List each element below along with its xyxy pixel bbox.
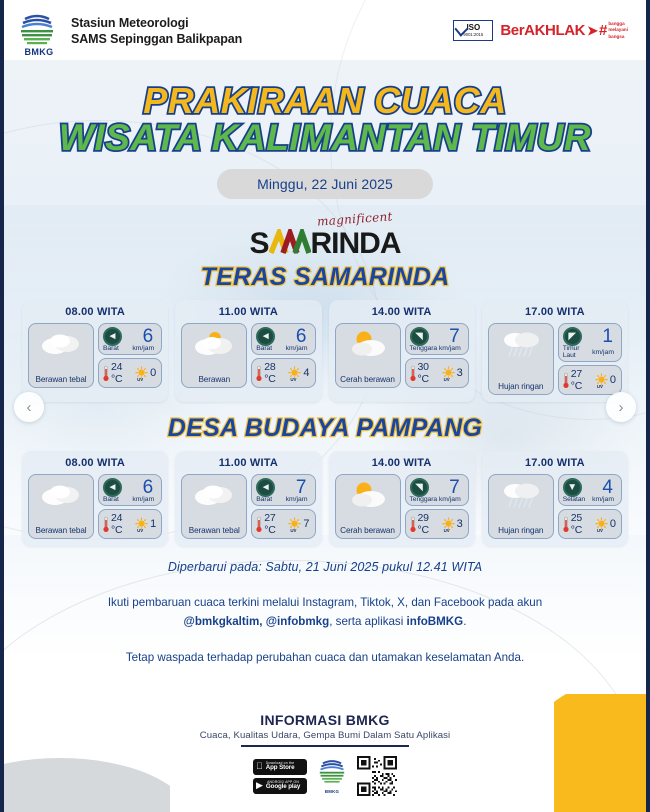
city-logo-prefix: S xyxy=(249,229,268,259)
condition-panel: Berawan xyxy=(181,323,247,388)
berakhlak-logo: ➤ # bangga melayani bangsa xyxy=(587,21,628,40)
google-play-icon: ▶ xyxy=(256,781,263,790)
temperature-panel: 25 °C xyxy=(558,509,622,539)
wind-direction: Tenggara xyxy=(410,496,438,503)
warning-text: Tetap waspada terhadap perubahan cuaca d… xyxy=(0,651,650,664)
uv-sun-icon: UV xyxy=(441,517,456,532)
follow-end: . xyxy=(463,615,466,628)
wind-direction: Barat xyxy=(256,345,272,352)
sunny-cloudy-icon xyxy=(345,480,391,510)
forecast-time: 17.00 WITA xyxy=(488,457,622,469)
wind-direction: Barat xyxy=(103,345,119,352)
berakhlak-text: BerAKHLAK xyxy=(500,22,585,39)
uv-index-value: 1 xyxy=(150,518,158,530)
forecast-card[interactable]: 14.00 WITA Cerah berawan xyxy=(329,451,475,546)
wind-unit: km/jam xyxy=(592,496,617,503)
forecast-time: 17.00 WITA xyxy=(488,306,622,318)
forecast-card[interactable]: 11.00 WITA Berawan tebal xyxy=(175,451,321,546)
thermometer-icon xyxy=(562,372,570,389)
condition-panel: Hujan ringan xyxy=(488,323,554,395)
uv-label: UV xyxy=(597,384,603,389)
wind-unit: km/jam xyxy=(592,349,617,356)
compass-west-icon: ◄ xyxy=(256,327,275,346)
thermometer-icon xyxy=(102,516,110,533)
condition-label: Hujan ringan xyxy=(498,526,543,535)
wind-unit: km/jam xyxy=(286,345,311,352)
cloudy-heavy-icon xyxy=(191,480,237,510)
uv-sun-icon: UV xyxy=(287,517,302,532)
forecast-time: 14.00 WITA xyxy=(335,457,469,469)
forecast-time: 11.00 WITA xyxy=(181,306,315,318)
condition-label: Cerah berawan xyxy=(340,526,395,535)
berakhlak-badge: BerAKHLAK ➤ # bangga melayani bangsa xyxy=(500,21,628,40)
city-logo-name: S RINDA xyxy=(249,227,400,259)
apple-icon:  xyxy=(256,762,263,771)
temperature-value: 27 °C xyxy=(571,368,593,392)
wind-panel: ◄ 7 Barat km/jam xyxy=(251,474,315,506)
compass-west-icon: ◄ xyxy=(103,327,122,346)
forecast-card[interactable]: 11.00 WITA Berawan xyxy=(175,300,321,402)
wind-speed: 4 xyxy=(602,478,617,497)
location-heading-1: TERAS SAMARINDA xyxy=(0,263,650,292)
arrow-icon: ➤ xyxy=(587,24,598,37)
store-badges:  Download on the App Store ▶ ANDROID AP… xyxy=(253,759,307,794)
temperature-value: 24 °C xyxy=(111,361,133,385)
bmkg-logo-icon xyxy=(16,12,58,46)
follow-text: Ikuti pembaruan cuaca terkini melalui In… xyxy=(0,594,650,631)
chevron-right-icon: › xyxy=(619,399,624,416)
condition-panel: Berawan tebal xyxy=(181,474,247,539)
organization-name: Stasiun Meteorologi SAMS Sepinggan Balik… xyxy=(71,12,242,47)
condition-label: Berawan tebal xyxy=(189,526,240,535)
forecast-grid-1: 08.00 WITA Berawan tebal xyxy=(0,300,650,402)
tagline-line-2: melayani xyxy=(608,27,628,33)
condition-panel: Berawan tebal xyxy=(28,323,94,388)
uv-index-value: 0 xyxy=(610,518,618,530)
bmkg-logo-text: BMKG xyxy=(16,47,62,57)
wind-panel: ◄ 6 Barat km/jam xyxy=(98,323,162,355)
compass-south-icon: ▼ xyxy=(563,478,582,497)
thermometer-icon xyxy=(409,516,417,533)
wind-panel: ◥ 7 Tenggara km/jam xyxy=(405,323,469,355)
wind-speed: 1 xyxy=(602,327,617,346)
uv-label: UV xyxy=(444,528,450,533)
updated-timestamp: Diperbarui pada: Sabtu, 21 Juni 2025 puk… xyxy=(0,560,650,574)
wind-panel: ◥ 7 Tenggara km/jam xyxy=(405,474,469,506)
wind-panel: ◄ 6 Barat km/jam xyxy=(251,323,315,355)
follow-line-1: Ikuti pembaruan cuaca terkini melalui In… xyxy=(108,596,542,609)
appstore-name: App Store xyxy=(266,765,295,771)
uv-index-value: 3 xyxy=(457,367,465,379)
compass-west-icon: ◄ xyxy=(256,478,275,497)
mini-bmkg-logo: BMKG xyxy=(315,758,349,794)
city-logo-mark-icon xyxy=(269,227,311,253)
wind-panel: ▼ 4 Selatan km/jam xyxy=(558,474,622,506)
condition-label: Cerah berawan xyxy=(340,375,395,384)
temperature-panel: 24 °C xyxy=(98,509,162,539)
uv-sun-icon: UV xyxy=(594,517,609,532)
thermometer-icon xyxy=(255,365,263,382)
wind-direction: Timur Laut xyxy=(563,345,592,359)
wind-speed: 6 xyxy=(143,327,158,346)
temperature-value: 25 °C xyxy=(571,512,593,536)
light-rain-icon xyxy=(498,329,544,359)
page-header: BMKG Stasiun Meteorologi SAMS Sepinggan … xyxy=(0,0,650,66)
city-logo: magnificent S RINDA xyxy=(0,215,650,257)
wind-unit: km/jam xyxy=(439,496,464,503)
info-title: INFORMASI BMKG xyxy=(0,712,650,728)
uv-index-value: 0 xyxy=(610,374,618,386)
wind-direction: Barat xyxy=(103,496,119,503)
wind-unit: km/jam xyxy=(286,496,311,503)
follow-app-name: infoBMKG xyxy=(407,615,464,628)
forecast-grid-2: 08.00 WITA Berawan tebal xyxy=(0,451,650,546)
compass-southeast-icon: ◥ xyxy=(410,327,429,346)
forecast-time: 08.00 WITA xyxy=(28,306,162,318)
uv-sun-icon: UV xyxy=(287,366,302,381)
temperature-panel: 27 °C xyxy=(558,365,622,395)
compass-northeast-icon: ◤ xyxy=(563,327,582,346)
light-rain-icon xyxy=(498,480,544,510)
wind-speed: 6 xyxy=(143,478,158,497)
temperature-panel: 29 °C xyxy=(405,509,469,539)
title-block: PRAKIRAAN CUACA WISATA KALIMANTAN TIMUR … xyxy=(0,82,650,199)
forecast-card[interactable]: 14.00 WITA Cerah berawan xyxy=(329,300,475,402)
condition-label: Berawan tebal xyxy=(35,526,86,535)
temperature-value: 27 °C xyxy=(264,512,286,536)
thermometer-icon xyxy=(102,365,110,382)
bmkg-logo-icon xyxy=(316,758,348,784)
temperature-panel: 30 °C xyxy=(405,358,469,388)
uv-index-value: 3 xyxy=(457,518,465,530)
cloudy-heavy-icon xyxy=(38,329,84,359)
page-title-line-2: WISATA KALIMANTAN TIMUR xyxy=(0,119,650,157)
forecast-time: 11.00 WITA xyxy=(181,457,315,469)
info-subtitle: Cuaca, Kualitas Udara, Gempa Bumi Dalam … xyxy=(0,730,650,741)
uv-sun-icon: UV xyxy=(134,366,149,381)
wind-unit: km/jam xyxy=(439,345,464,352)
playstore-name: Google play xyxy=(266,784,300,790)
condition-panel: Hujan ringan xyxy=(488,474,554,539)
uv-label: UV xyxy=(290,377,296,382)
forecast-card[interactable]: 17.00 WITA Huja xyxy=(482,300,628,402)
bmkg-logo: BMKG xyxy=(16,12,62,57)
uv-sun-icon: UV xyxy=(134,517,149,532)
city-logo-suffix: RINDA xyxy=(311,229,401,259)
forecast-time: 08.00 WITA xyxy=(28,457,162,469)
thermometer-icon xyxy=(255,516,263,533)
app-store-row:  Download on the App Store ▶ ANDROID AP… xyxy=(0,756,650,796)
uv-sun-icon: UV xyxy=(594,373,609,388)
cloudy-heavy-icon xyxy=(38,480,84,510)
uv-label: UV xyxy=(137,377,143,382)
chevron-left-icon: ‹ xyxy=(27,399,32,416)
compass-southeast-icon: ◥ xyxy=(410,478,429,497)
condition-label: Hujan ringan xyxy=(498,382,543,391)
mini-bmkg-text: BMKG xyxy=(315,789,349,794)
sunny-cloudy-icon xyxy=(345,329,391,359)
wind-speed: 6 xyxy=(296,327,311,346)
follow-accounts: @bmkgkaltim, @infobmkg xyxy=(184,615,330,628)
partly-cloudy-icon xyxy=(191,329,237,359)
uv-label: UV xyxy=(137,528,143,533)
wind-panel: ◄ 6 Barat km/jam xyxy=(98,474,162,506)
uv-label: UV xyxy=(597,528,603,533)
wind-unit: km/jam xyxy=(132,496,157,503)
forecast-date-pill: Minggu, 22 Juni 2025 xyxy=(217,169,433,199)
iso-badge: ISO 9001:2015 xyxy=(453,20,493,41)
org-line-1: Stasiun Meteorologi xyxy=(71,15,242,31)
uv-index-value: 7 xyxy=(303,518,311,530)
org-line-2: SAMS Sepinggan Balikpapan xyxy=(71,31,242,47)
wind-speed: 7 xyxy=(449,327,464,346)
wind-panel: ◤ 1 Timur Laut km/jam xyxy=(558,323,622,362)
appstore-button[interactable]:  Download on the App Store xyxy=(253,759,307,775)
wind-speed: 7 xyxy=(296,478,311,497)
temperature-value: 24 °C xyxy=(111,512,133,536)
tagline-line-3: bangsa xyxy=(608,34,628,40)
forecast-card[interactable]: 08.00 WITA Berawan tebal xyxy=(22,300,168,402)
temperature-value: 28 °C xyxy=(264,361,286,385)
uv-sun-icon: UV xyxy=(441,366,456,381)
wind-direction: Tenggara xyxy=(410,345,438,352)
temperature-value: 29 °C xyxy=(418,512,440,536)
condition-label: Berawan xyxy=(198,375,230,384)
temperature-panel: 28 °C xyxy=(251,358,315,388)
brand-block: BMKG Stasiun Meteorologi SAMS Sepinggan … xyxy=(16,12,242,57)
wind-direction: Barat xyxy=(256,496,272,503)
temperature-value: 30 °C xyxy=(418,361,440,385)
location-heading-2: DESA BUDAYA PAMPANG xyxy=(0,414,650,443)
thermometer-icon xyxy=(409,365,417,382)
condition-panel: Berawan tebal xyxy=(28,474,94,539)
forecast-card[interactable]: 08.00 WITA Berawan tebal xyxy=(22,451,168,546)
forecast-time: 14.00 WITA xyxy=(335,306,469,318)
uv-label: UV xyxy=(444,377,450,382)
iso-standard: 9001:2015 xyxy=(463,32,483,37)
page-title-line-1: PRAKIRAAN CUACA xyxy=(0,82,650,119)
compass-west-icon: ◄ xyxy=(103,478,122,497)
follow-mid: , serta aplikasi xyxy=(329,615,406,628)
infographic-page: BMKG Stasiun Meteorologi SAMS Sepinggan … xyxy=(0,0,650,812)
temperature-panel: 24 °C xyxy=(98,358,162,388)
qr-code-icon xyxy=(357,756,397,796)
condition-label: Berawan tebal xyxy=(35,375,86,384)
forecast-card[interactable]: 17.00 WITA Huja xyxy=(482,451,628,546)
wind-direction: Selatan xyxy=(563,496,585,503)
temperature-panel: 27 °C xyxy=(251,509,315,539)
uv-label: UV xyxy=(290,528,296,533)
condition-panel: Cerah berawan xyxy=(335,474,401,539)
hash-icon: # xyxy=(599,23,607,38)
berakhlak-tagline: bangga melayani bangsa xyxy=(608,21,628,40)
playstore-button[interactable]: ▶ ANDROID APP ON Google play xyxy=(253,778,307,794)
wind-speed: 7 xyxy=(449,478,464,497)
uv-index-value: 0 xyxy=(150,367,158,379)
uv-index-value: 4 xyxy=(303,367,311,379)
header-badges: ISO 9001:2015 BerAKHLAK ➤ # bangga melay… xyxy=(453,12,628,41)
thermometer-icon xyxy=(562,516,570,533)
info-divider xyxy=(241,745,409,747)
wind-unit: km/jam xyxy=(132,345,157,352)
informasi-bmkg-block: INFORMASI BMKG Cuaca, Kualitas Udara, Ge… xyxy=(0,712,650,796)
condition-panel: Cerah berawan xyxy=(335,323,401,388)
